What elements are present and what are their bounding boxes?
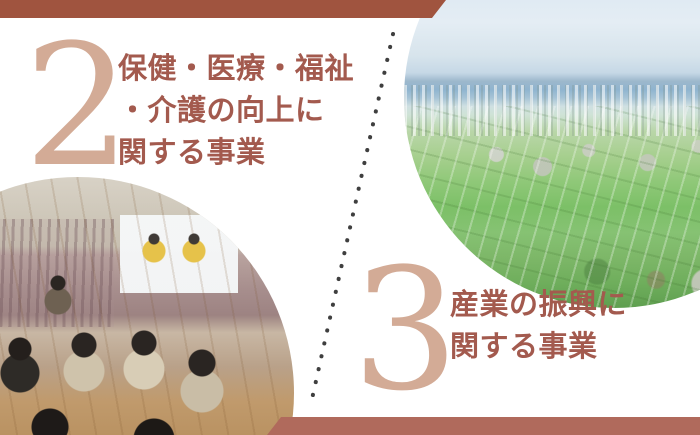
- section-3-numeral: 3: [352, 246, 459, 414]
- poster-canvas: 2 保健・医療・福祉 ・介護の向上に 関する事業 3 産業の振興に 関する事業: [0, 0, 700, 435]
- bottom-accent-bar: [281, 417, 700, 435]
- section-2-numeral: 2: [24, 22, 131, 190]
- section-3-heading: 産業の振興に 関する事業: [450, 284, 627, 368]
- section-2-heading: 保健・医療・福祉 ・介護の向上に 関する事業: [118, 48, 354, 173]
- class-photo-image: [0, 177, 294, 435]
- top-accent-bar: [0, 0, 432, 18]
- community-health-class-photo: [0, 177, 294, 435]
